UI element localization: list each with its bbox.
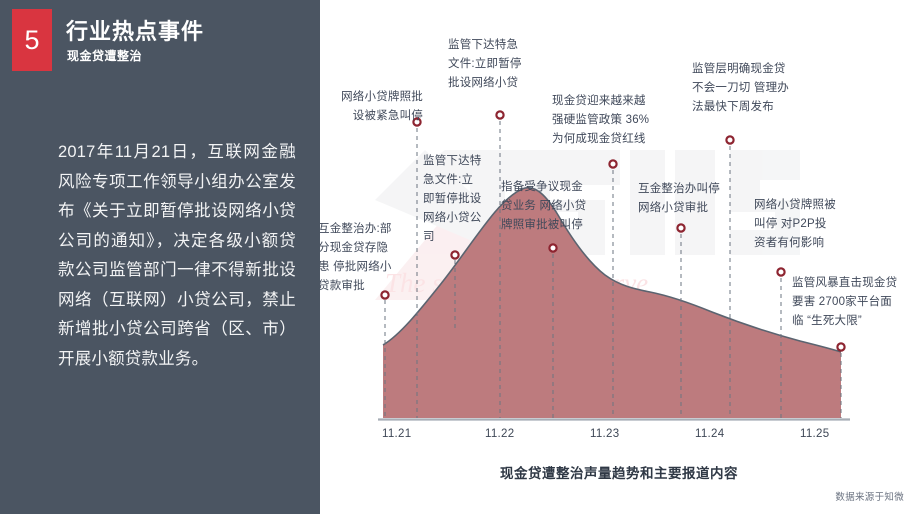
slide-root: 5 行业热点事件 现金贷遭整治 2017年11月21日，互联网金融风险专项工作领… (0, 0, 918, 514)
event-marker-a6 (609, 160, 616, 167)
x-tick-4: 11.25 (800, 428, 829, 440)
x-tick-2: 11.23 (590, 428, 619, 440)
event-marker-a3 (451, 251, 458, 258)
body-paragraph: 2017年11月21日，互联网金融风险专项工作领导小组办公室发布《关于立即暂停批… (58, 138, 296, 374)
event-marker-a10 (837, 343, 844, 350)
event-marker-a8 (726, 136, 733, 143)
annotation-a2: 互金整治办:部 分现金贷存隐 患 停批网络小 贷款审批 (320, 220, 398, 296)
page-subtitle: 现金贷遭整治 (67, 47, 142, 64)
annotation-a4: 监管下达特急 文件:立即暂停 批设网络小贷 (448, 36, 544, 93)
data-source-note: 数据来源于知微 (835, 489, 904, 503)
event-marker-a5 (549, 244, 556, 251)
event-marker-a7 (677, 224, 684, 231)
annotation-a8: 监管层明确现金贷 不会一刀切 管理办 法最快下周发布 (692, 60, 810, 117)
annotation-a6: 现金贷迎来越来越 强硬监管政策 36% 为何成现金贷红线 (552, 92, 674, 149)
x-tick-0: 11.21 (382, 428, 411, 440)
x-tick-3: 11.24 (695, 428, 724, 440)
left-info-panel: 5 行业热点事件 现金贷遭整治 2017年11月21日，互联网金融风险专项工作领… (0, 0, 320, 514)
annotation-a7: 互金整治办叫停 网络小贷审批 (638, 180, 738, 218)
annotation-a1: 网络小贷牌照批 设被紧急叫停 (331, 88, 423, 126)
annotation-a10: 监管风暴直击现金贷 要害 2700家平台面 临 “生死大限” (792, 274, 914, 331)
annotation-a9: 网络小贷牌照被 叫停 对P2P投 资者有何影响 (754, 196, 862, 253)
annotation-a3: 监管下达特 急文件:立 即暂停批设 网络小贷公 司 (423, 152, 485, 247)
annotation-a5: 指备受争议现金 贷业务 网络小贷 牌照审批被叫停 (501, 178, 605, 235)
event-marker-a9 (777, 268, 784, 275)
chart-title: 现金贷遭整治声量趋势和主要报道内容 (320, 462, 918, 482)
section-number-badge: 5 (12, 9, 52, 71)
event-marker-a4 (496, 111, 503, 118)
page-title: 行业热点事件 (66, 14, 204, 46)
x-tick-1: 11.22 (485, 428, 514, 440)
chart-panel: The success you deserve (320, 0, 918, 514)
